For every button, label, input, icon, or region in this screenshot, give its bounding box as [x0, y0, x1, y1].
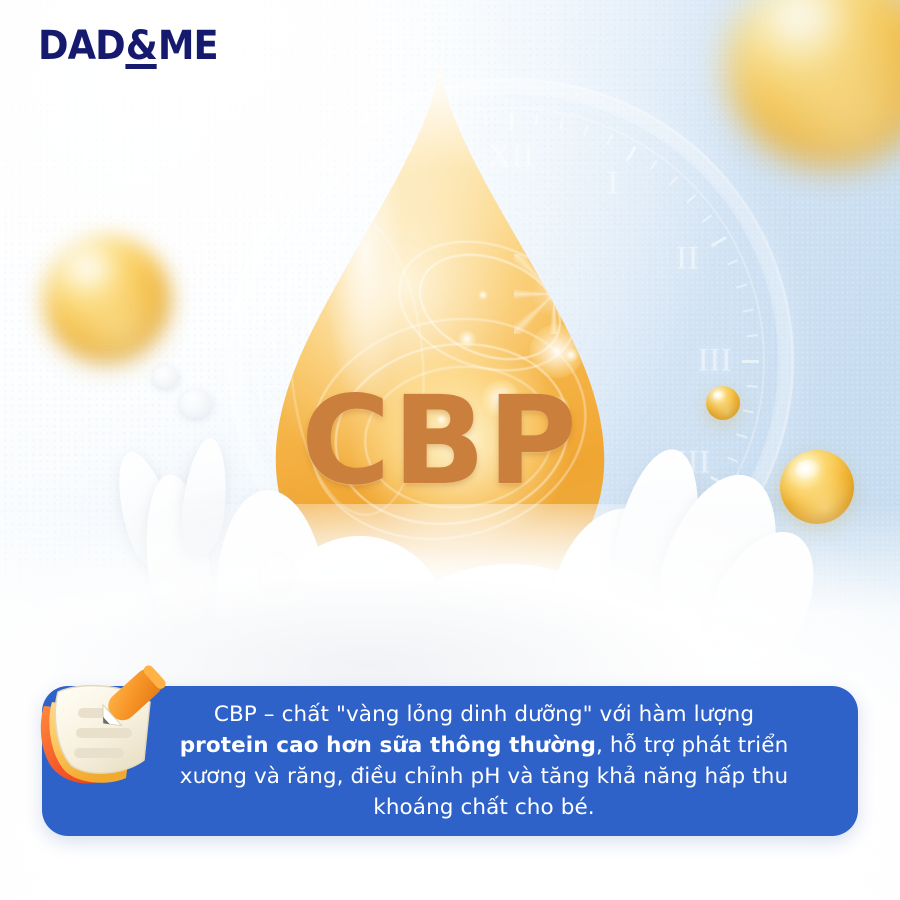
note-line-3	[74, 748, 124, 758]
clock-numeral: II	[676, 241, 699, 278]
gold-bubble-right-small	[706, 386, 740, 420]
logo-text-dad: DAD	[38, 23, 125, 69]
banner-line-4: khoáng chất cho bé.	[373, 795, 594, 820]
promo-banner-image: XIIIIIIIIIIIIVVIVIIVIIIIXXXI CBP	[0, 0, 900, 900]
brand-logo: DAD&ME	[38, 26, 218, 66]
clock-numeral: III	[698, 343, 732, 380]
logo-text-me: ME	[158, 23, 218, 69]
logo-ampersand: &	[125, 26, 158, 66]
white-droplet-left-a	[153, 366, 179, 388]
gold-bubble-left	[44, 236, 170, 362]
banner-line-2-rest: , hỗ trợ phát triển	[596, 733, 788, 758]
banner-line-3: xương và răng, điều chỉnh pH và tăng khả…	[180, 764, 788, 789]
note-line-2	[76, 728, 132, 738]
banner-line-1: CBP – chất "vàng lỏng dinh dưỡng" với hà…	[214, 702, 754, 727]
white-droplet-left-b	[180, 390, 212, 418]
info-banner-text: CBP – chất "vàng lỏng dinh dưỡng" với hà…	[150, 699, 818, 823]
banner-line-2-bold: protein cao hơn sữa thông thường	[180, 733, 596, 758]
note-and-pencil-icon	[22, 662, 170, 794]
